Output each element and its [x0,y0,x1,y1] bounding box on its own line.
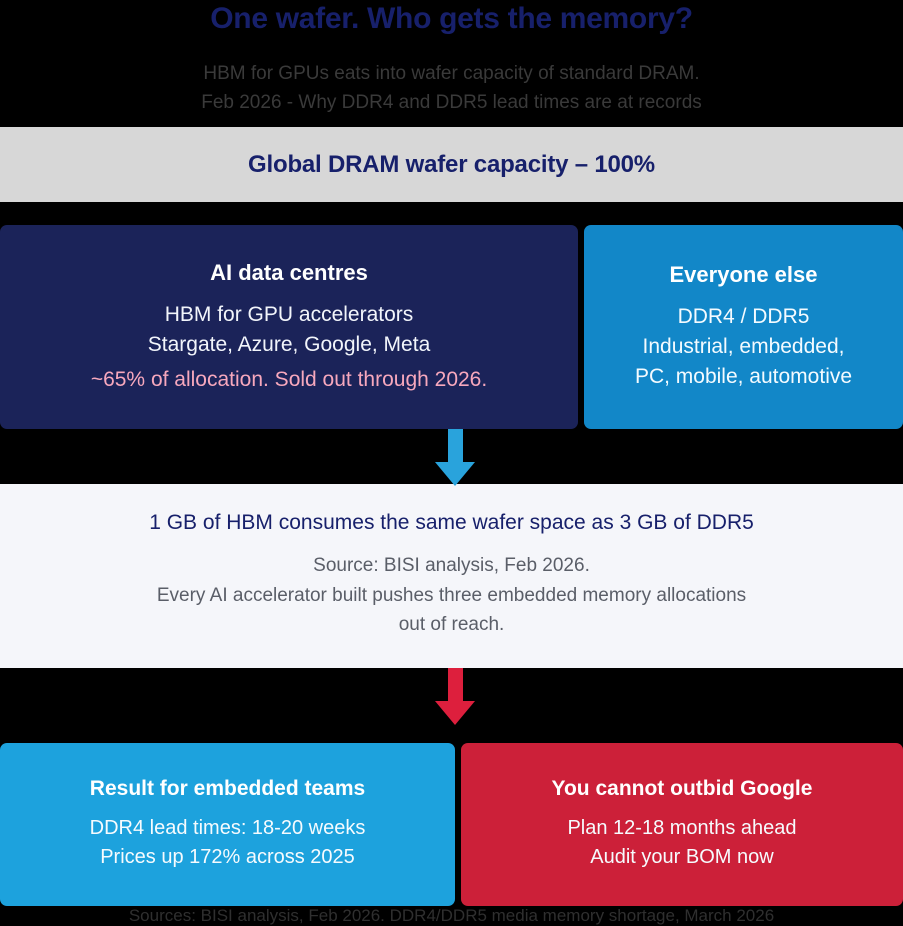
panel-ai-line-1: HBM for GPU accelerators [165,300,414,330]
arrow-head [435,701,475,725]
panel-ai-title: AI data centres [210,260,368,286]
arrow-shaft [448,429,463,465]
subtitle-block: HBM for GPUs eats into wafer capacity of… [201,59,702,118]
arrow-zone-bottom [0,668,903,724]
panel-result-embedded-teams[interactable]: Result for embedded teams DDR4 lead time… [0,743,455,906]
wafer-ratio-note: 1 GB of HBM consumes the same wafer spac… [0,484,903,667]
panel-everyone-title: Everyone else [670,262,818,288]
panel-cannot-outbid-google[interactable]: You cannot outbid Google Plan 12-18 mont… [461,743,903,906]
panel-ai-allocation-note: ~65% of allocation. Sold out through 202… [91,365,487,395]
panel-warning-title: You cannot outbid Google [552,777,813,801]
footer-zone: Sources: BISI analysis, Feb 2026. DDR4/D… [0,906,903,926]
panel-warning-line-2: Audit your BOM now [590,843,773,873]
allocation-row: AI data centres HBM for GPU accelerators… [0,225,903,428]
note-headline: 1 GB of HBM consumes the same wafer spac… [149,511,754,535]
panel-warning-line-1: Plan 12-18 months ahead [567,814,796,844]
panel-everyone-line-1: DDR4 / DDR5 [678,302,810,332]
down-arrow-icon [435,429,475,485]
note-detail-line-1: Every AI accelerator built pushes three … [157,581,746,610]
note-source: Source: BISI analysis, Feb 2026. [313,551,590,580]
capacity-band: Global DRAM wafer capacity – 100% [0,127,903,202]
panel-result-line-1: DDR4 lead times: 18-20 weeks [90,814,366,844]
panel-ai-line-2: Stargate, Azure, Google, Meta [148,330,431,360]
panel-everyone-line-3: PC, mobile, automotive [635,362,852,392]
arrow-shaft [448,668,463,704]
capacity-band-label: Global DRAM wafer capacity – 100% [248,151,655,179]
footer-sources: Sources: BISI analysis, Feb 2026. DDR4/D… [129,906,774,926]
header-zone: One wafer. Who gets the memory? HBM for … [0,0,903,127]
down-arrow-icon [435,668,475,724]
panel-everyone-line-2: Industrial, embedded, [643,332,845,362]
panel-result-title: Result for embedded teams [90,777,365,801]
subtitle-line-1: HBM for GPUs eats into wafer capacity of… [203,59,699,88]
page-title: One wafer. Who gets the memory? [210,2,692,37]
panel-result-line-2: Prices up 172% across 2025 [100,843,355,873]
panel-everyone-else[interactable]: Everyone else DDR4 / DDR5 Industrial, em… [584,225,903,428]
note-detail-line-2: out of reach. [399,610,505,639]
subtitle-line-2: Feb 2026 - Why DDR4 and DDR5 lead times … [201,88,702,117]
arrow-head [435,462,475,486]
arrow-zone-top [0,429,903,485]
results-row: Result for embedded teams DDR4 lead time… [0,743,903,906]
infographic-root: One wafer. Who gets the memory? HBM for … [0,0,903,926]
panel-ai-data-centres[interactable]: AI data centres HBM for GPU accelerators… [0,225,578,428]
